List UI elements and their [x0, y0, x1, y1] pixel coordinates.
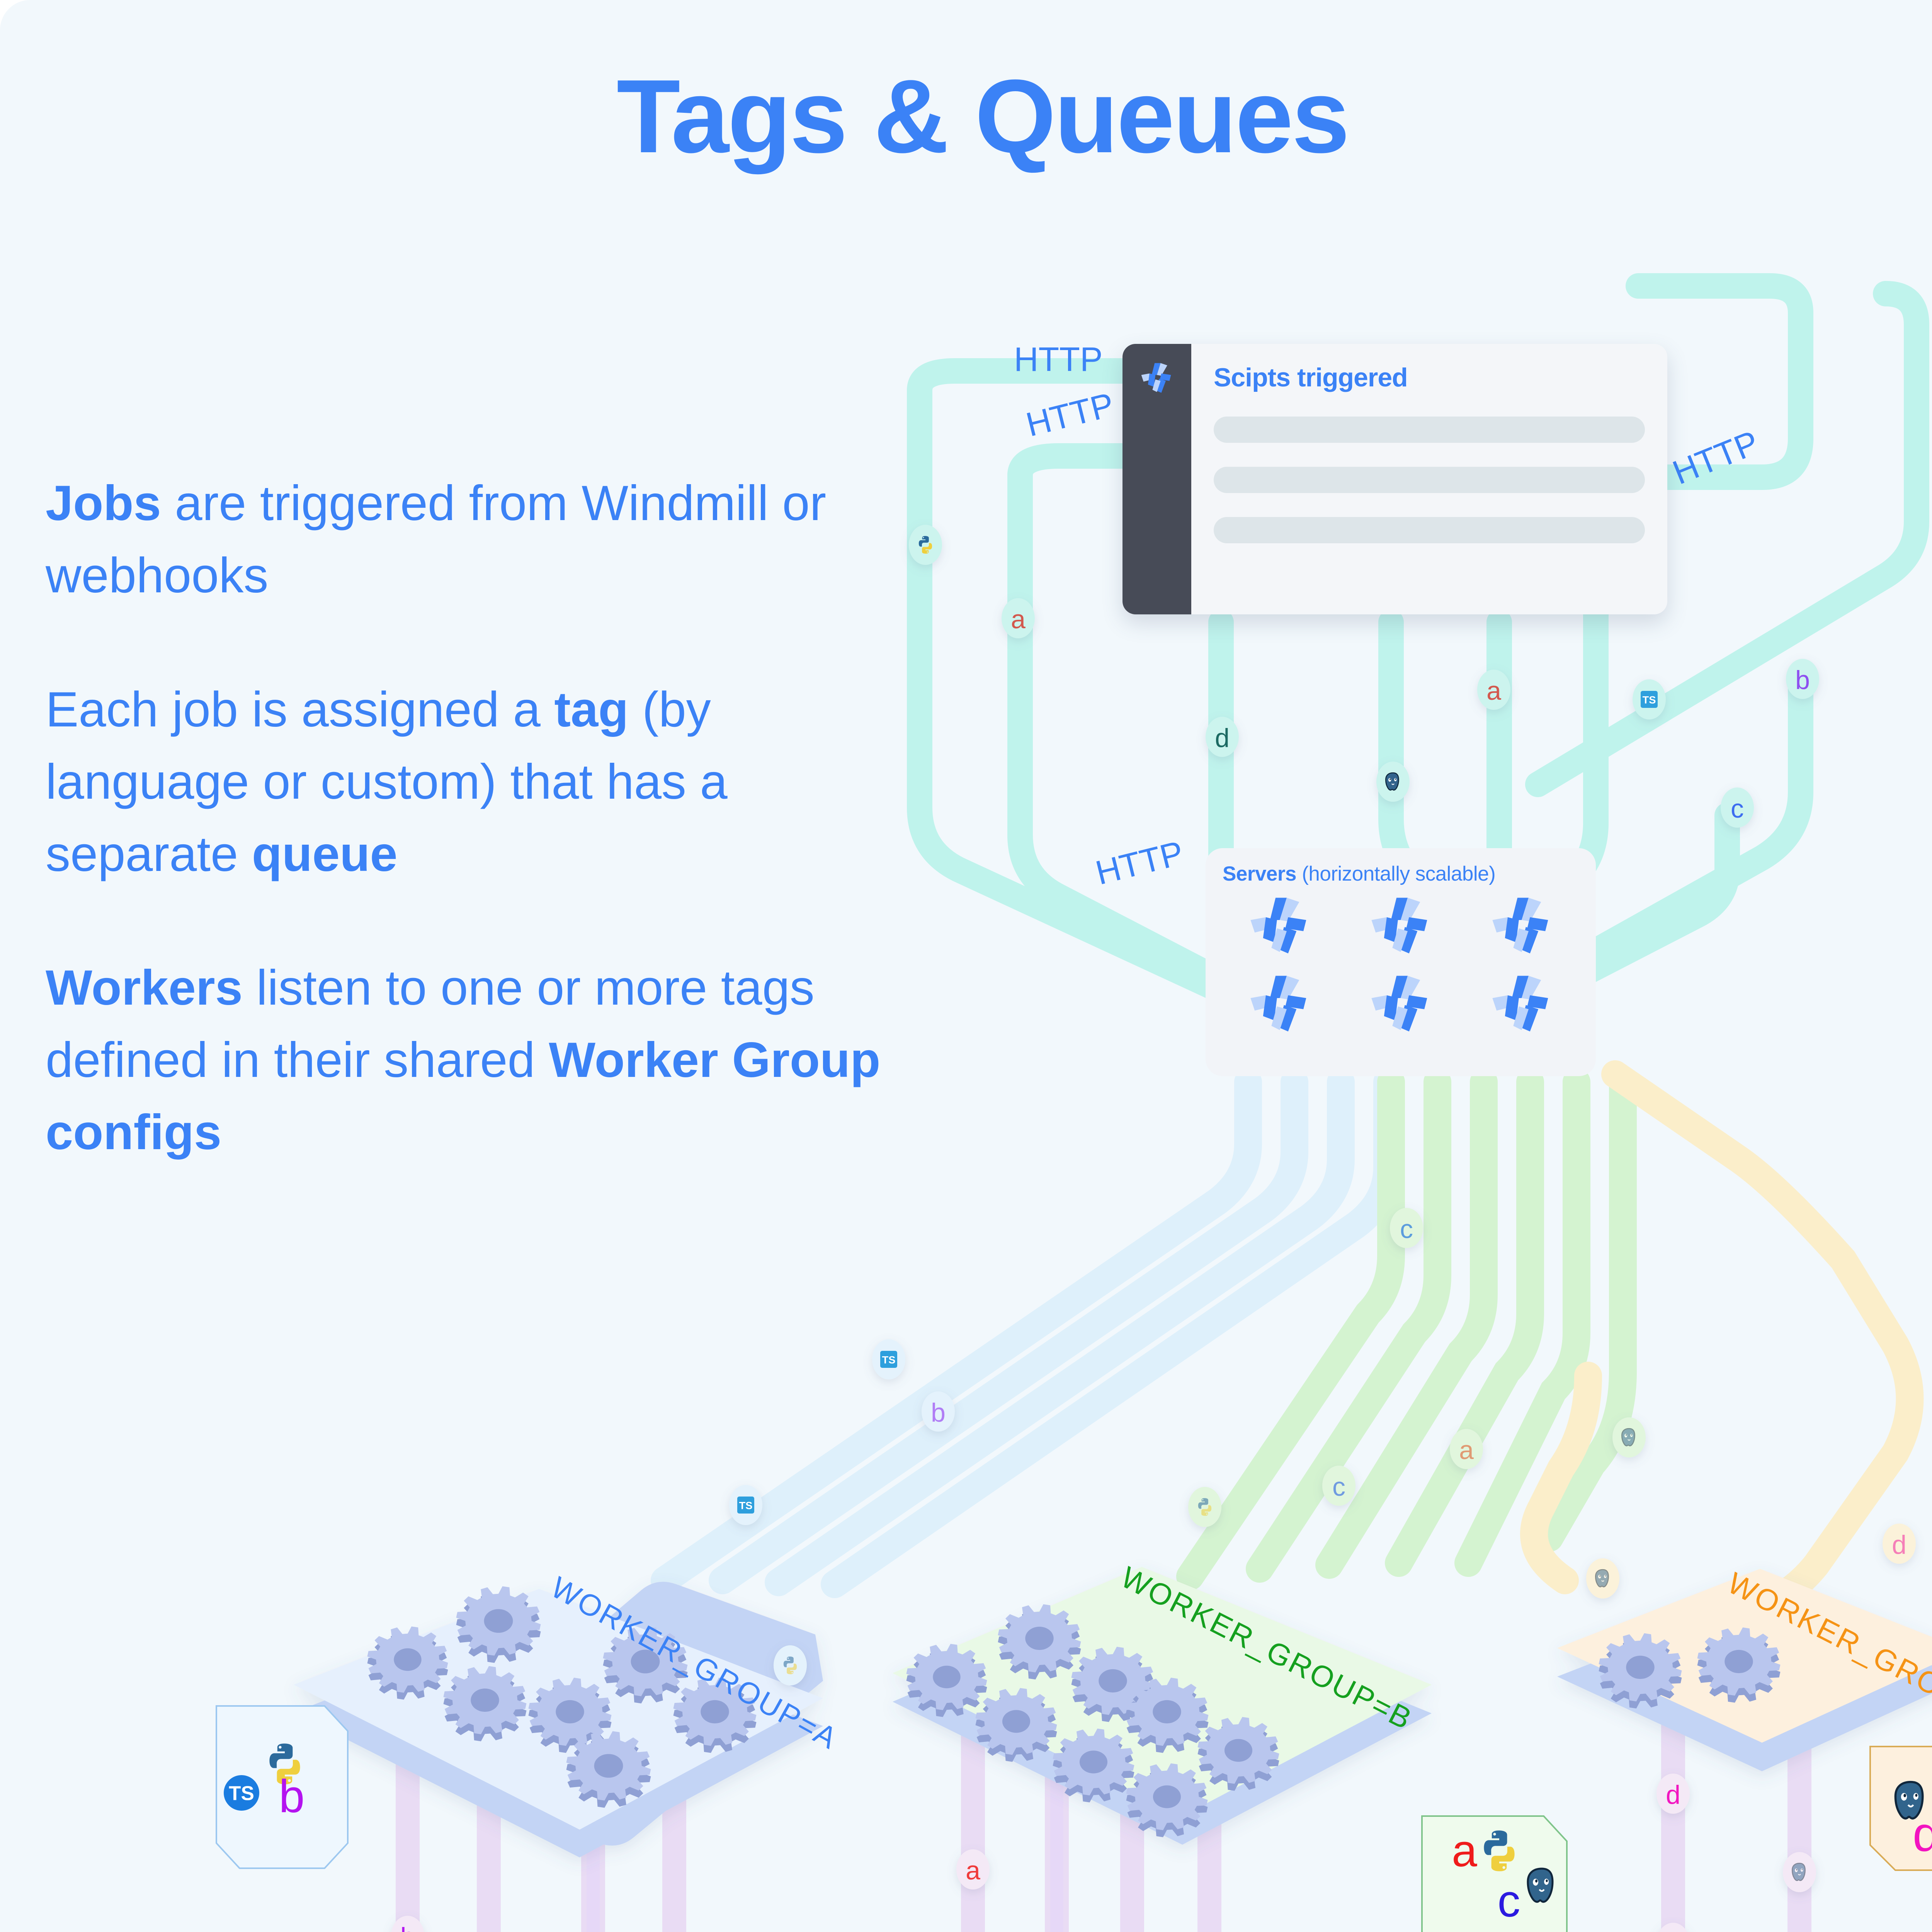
gear-hub [1080, 1750, 1107, 1773]
postgres-icon [1792, 1863, 1805, 1881]
flow-badge: b [922, 1391, 955, 1432]
windmill-logo-icon [1366, 892, 1435, 964]
gear-icon [976, 1688, 1057, 1762]
tag-letter: d [1913, 1807, 1932, 1861]
flow-badge: d [1656, 1774, 1690, 1814]
badge-letter: a [1459, 1435, 1474, 1465]
badge-letter: d [1892, 1530, 1906, 1560]
badge-letter: a [966, 1856, 980, 1885]
flow-badge: b [391, 1916, 424, 1932]
badge-letter: d [1666, 1780, 1680, 1810]
typescript-icon: TS [1641, 691, 1658, 708]
page-title: Tags & Queues [0, 62, 1932, 172]
gear-hub [1002, 1710, 1030, 1733]
servers-panel[interactable]: Servers (horizontally scalable) [1206, 848, 1596, 1076]
gear-hub [1725, 1650, 1753, 1673]
http-label: HTTP [1014, 340, 1103, 378]
gear-hub [1225, 1739, 1252, 1762]
paragraph-tag-lead: Each job is assigned a [46, 682, 554, 737]
flow-badge: d [1656, 1923, 1690, 1932]
paragraph-tag-b1: tag [554, 682, 628, 737]
paragraph-workers-lead: Workers [46, 960, 243, 1015]
gear-icon [1697, 1628, 1781, 1703]
gear-hub [394, 1648, 421, 1671]
gear-hub [1099, 1669, 1127, 1692]
flow-badge: a [1002, 598, 1035, 638]
gear-hub [471, 1689, 499, 1712]
tag-letter: a [1452, 1825, 1477, 1876]
flow-badge: TS [1633, 679, 1666, 719]
servers-label-rest: (horizontally scalable) [1296, 862, 1495, 885]
postgres-icon [1595, 1570, 1608, 1587]
tag-letter: b [279, 1770, 305, 1822]
flow-badge [1586, 1558, 1619, 1599]
tag-card-c[interactable]: d [1870, 1747, 1932, 1870]
gear-icon [566, 1731, 651, 1808]
ts-label: TS [882, 1354, 896, 1366]
gear-icon [456, 1586, 541, 1663]
card-rail [1122, 344, 1191, 614]
ts-label: TS [1643, 694, 1656, 706]
infographic-canvas: WORKER_GROUP=AWORKER_GROUP=BWORKER_GROUP… [0, 0, 1932, 1932]
postgres-icon [1528, 1869, 1553, 1902]
windmill-logo-icon [1487, 970, 1556, 1042]
typescript-icon: TS [224, 1775, 259, 1811]
flow-badge: d [1206, 717, 1239, 757]
windmill-logo-icon [1245, 892, 1315, 964]
typescript-icon: TS [737, 1497, 754, 1514]
paragraph-jobs-rest: are triggered from Windmill or webhooks [46, 476, 826, 603]
card-body: Scipts triggered [1191, 344, 1667, 614]
windmill-logo-icon [1487, 892, 1556, 964]
flow-badge: TS [729, 1485, 762, 1525]
badge-bg [774, 1645, 807, 1685]
badge-letter: a [1486, 676, 1501, 706]
badge-letter: d [1215, 723, 1230, 753]
badge-letter: c [1731, 794, 1744, 823]
flow-badge: a [1450, 1429, 1483, 1469]
gear-icon [906, 1644, 987, 1717]
flow-badge [774, 1645, 807, 1685]
windmill-logo-icon [1138, 360, 1175, 614]
gear-icon [1198, 1717, 1279, 1791]
flow-badge: TS [872, 1339, 905, 1379]
description-copy: Jobs are triggered from Windmill or webh… [46, 468, 915, 1169]
flow-badge: b [1786, 659, 1819, 699]
servers-logo-grid [1223, 889, 1579, 1044]
scripts-triggered-card[interactable]: Scipts triggered [1122, 344, 1667, 614]
gear-hub [933, 1666, 960, 1689]
servers-label: Servers (horizontally scalable) [1223, 862, 1579, 886]
gear-hub [1153, 1700, 1181, 1723]
gear-hub [484, 1609, 513, 1633]
gear-hub [594, 1754, 623, 1777]
gear-icon [444, 1666, 527, 1742]
ts-label: TS [739, 1500, 753, 1512]
flow-badge: a [1477, 670, 1510, 710]
skeleton-row [1214, 517, 1645, 543]
paragraph-workers: Workers listen to one or more tags defin… [46, 952, 915, 1169]
paragraph-jobs: Jobs are triggered from Windmill or webh… [46, 468, 915, 612]
skeleton-row [1214, 417, 1645, 443]
flow-badge [1612, 1417, 1646, 1458]
gear-hub [1626, 1656, 1654, 1679]
tag-letter: c [1498, 1876, 1520, 1927]
http-label: HTTP [1667, 423, 1764, 492]
badge-bg [1188, 1487, 1221, 1527]
gear-hub [1153, 1785, 1181, 1808]
gear-icon [1126, 1678, 1209, 1753]
badge-letter: b [400, 1922, 415, 1932]
gear-icon [1053, 1729, 1134, 1803]
tag-card-b[interactable]: ac [1422, 1816, 1567, 1932]
postgres-icon [1386, 773, 1398, 790]
skeleton-row [1214, 467, 1645, 493]
gear-icon [1126, 1764, 1208, 1837]
gear-hub [1025, 1627, 1053, 1650]
paragraph-jobs-lead: Jobs [46, 476, 161, 531]
card-title: Scipts triggered [1214, 362, 1645, 393]
flow-badge [1376, 762, 1410, 802]
flow-badge: d [1883, 1524, 1916, 1564]
gear-icon [1599, 1633, 1682, 1709]
badge-letter: b [931, 1398, 946, 1427]
gear-icon [998, 1604, 1081, 1680]
badge-letter: b [1795, 665, 1810, 695]
windmill-logo-icon [1366, 970, 1435, 1042]
gear-icon [367, 1626, 448, 1699]
flow-badge: a [956, 1849, 990, 1889]
servers-label-bold: Servers [1223, 862, 1296, 885]
ts-label: TS [229, 1782, 254, 1804]
badge-letter: d [1666, 1929, 1680, 1932]
flow-badge: c [1721, 787, 1754, 828]
flow-badge: c [1390, 1208, 1423, 1248]
http-label: HTTP [1022, 385, 1118, 444]
windmill-logo-icon [1245, 970, 1315, 1042]
flow-badge [1188, 1487, 1221, 1527]
paragraph-tag-b2: queue [252, 827, 398, 882]
flow-badge: c [1322, 1466, 1355, 1506]
gear-hub [556, 1700, 584, 1723]
badge-letter: a [1011, 605, 1026, 634]
paragraph-tag: Each job is assigned a tag (by language … [46, 674, 915, 891]
postgres-icon [1622, 1429, 1634, 1446]
badge-letter: c [1400, 1214, 1413, 1244]
badge-letter: c [1332, 1472, 1345, 1502]
gear-hub [701, 1700, 729, 1723]
flow-badge [1783, 1852, 1816, 1892]
typescript-icon: TS [880, 1351, 897, 1368]
tag-card-a[interactable]: TSb [216, 1706, 348, 1868]
http-label: HTTP [1092, 833, 1187, 892]
